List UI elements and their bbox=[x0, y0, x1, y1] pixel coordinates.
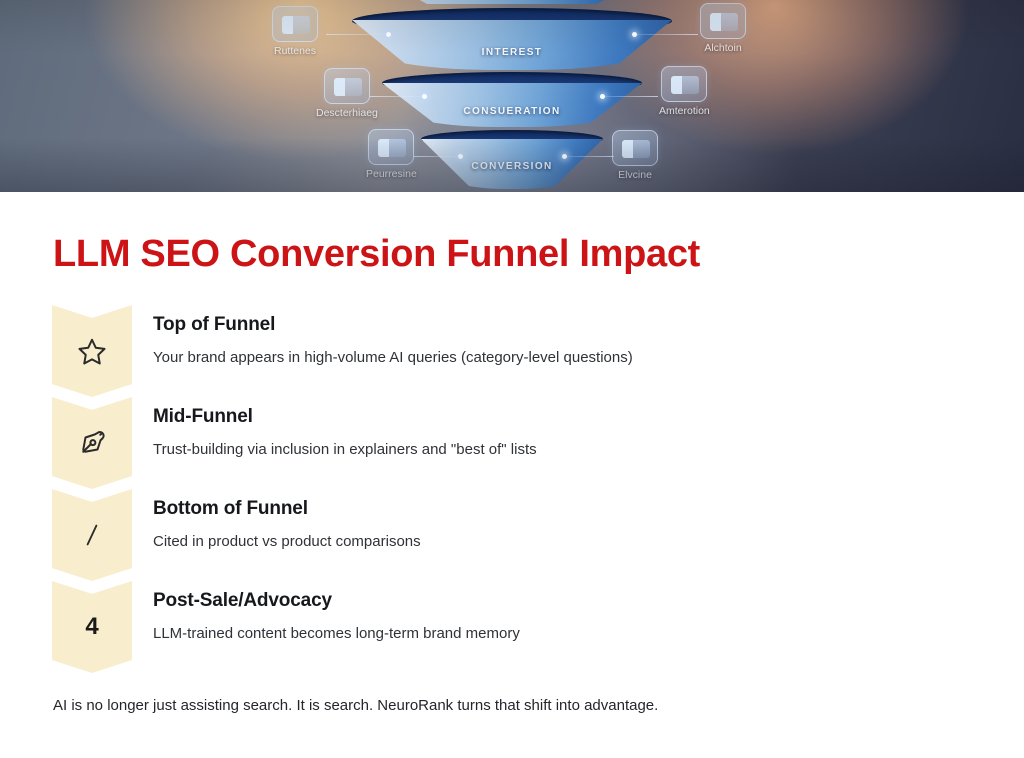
content-area: LLM SEO Conversion Funnel Impact Top of … bbox=[0, 192, 1024, 758]
stage-description: Cited in product vs product comparisons bbox=[153, 532, 943, 552]
stage-badge-4: 4 bbox=[52, 581, 132, 673]
stage-heading: Post-Sale/Advocacy bbox=[153, 589, 943, 613]
hero-vignette-overlay bbox=[0, 0, 1024, 192]
page-title: LLM SEO Conversion Funnel Impact bbox=[53, 234, 700, 276]
stage-text-block-1: Top of Funnel Your brand appears in high… bbox=[153, 313, 943, 368]
stage-description: Trust-building via inclusion in explaine… bbox=[153, 440, 943, 460]
hero-funnel-image: INTEREST CONSUERATION CONVERSION bbox=[0, 0, 1024, 192]
stage-text-block-3: Bottom of Funnel Cited in product vs pro… bbox=[153, 497, 943, 552]
stage-description: LLM-trained content becomes long-term br… bbox=[153, 624, 943, 644]
stage-text-block-4: Post-Sale/Advocacy LLM-trained content b… bbox=[153, 589, 943, 644]
list-item[interactable]: Top of Funnel Your brand appears in high… bbox=[52, 305, 972, 397]
stage-heading: Mid-Funnel bbox=[153, 405, 943, 429]
slash-icon bbox=[75, 518, 109, 552]
slide-root: INTEREST CONSUERATION CONVERSION bbox=[0, 0, 1024, 758]
list-item[interactable]: 4 Post-Sale/Advocacy LLM-trained content… bbox=[52, 581, 972, 673]
star-icon bbox=[75, 334, 109, 368]
stage-description: Your brand appears in high-volume AI que… bbox=[153, 348, 943, 368]
stage-heading: Top of Funnel bbox=[153, 313, 943, 337]
stage-badge-3 bbox=[52, 489, 132, 581]
stage-text-block-2: Mid-Funnel Trust-building via inclusion … bbox=[153, 405, 943, 460]
stage-badge-1 bbox=[52, 305, 132, 397]
list-item[interactable]: Mid-Funnel Trust-building via inclusion … bbox=[52, 397, 972, 489]
funnel-stage-list: Top of Funnel Your brand appears in high… bbox=[52, 305, 972, 673]
stage-heading: Bottom of Funnel bbox=[153, 497, 943, 521]
stage-badge-2 bbox=[52, 397, 132, 489]
number-glyph: 4 bbox=[85, 615, 98, 639]
list-item[interactable]: Bottom of Funnel Cited in product vs pro… bbox=[52, 489, 972, 581]
footnote-text: AI is no longer just assisting search. I… bbox=[53, 695, 658, 716]
pen-nib-icon bbox=[75, 426, 109, 460]
